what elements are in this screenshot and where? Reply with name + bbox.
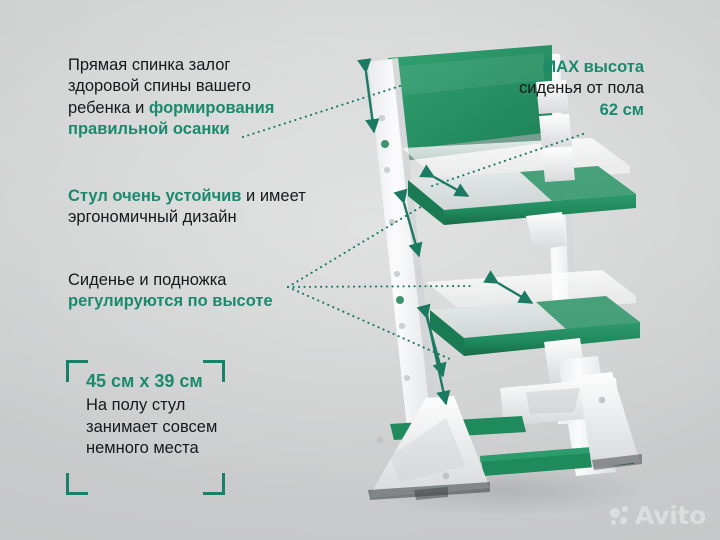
callout-footprint-line2: занимает совсем: [86, 417, 217, 438]
callout-backrest-line3-accent: формирования: [149, 99, 275, 117]
callout-backrest-line3-plain: ребенка и: [68, 99, 149, 117]
callout-max-height: MAX высота сиденья от пола 62 см: [519, 57, 644, 121]
callout-stability-line1: Стул очень устойчив и имеет: [68, 186, 306, 207]
callout-adjustable: Сиденье и подножка регулируются по высот…: [68, 270, 273, 313]
callout-stability-accent: Стул очень устойчив: [68, 187, 241, 205]
avito-watermark: Avito: [610, 503, 706, 528]
callout-max-height-value: 62 см: [519, 100, 644, 121]
callout-adjustable-line1: Сиденье и подножка: [68, 270, 273, 291]
bracket-bottom-right: [203, 473, 225, 495]
avito-wordmark: Avito: [635, 503, 706, 528]
avito-logo-icon: [610, 506, 630, 526]
callout-footprint-line3: немного места: [86, 438, 217, 459]
callout-footprint-line1: На полу стул: [86, 395, 217, 416]
callout-stability-plain: и имеет: [241, 187, 305, 205]
bracket-bottom-left: [66, 473, 88, 495]
callout-adjustable-line2: регулируются по высоте: [68, 291, 273, 312]
callout-footprint-dimensions: 45 см x 39 см: [86, 370, 217, 393]
infographic-canvas: Прямая спинка залог здоровой спины вашег…: [0, 0, 720, 540]
callout-max-height-line2: сиденья от пола: [519, 78, 644, 99]
callout-backrest-line3: ребенка и формирования: [68, 98, 274, 119]
callout-stability-line2: эргономичный дизайн: [68, 207, 306, 228]
callout-footprint: 45 см x 39 см На полу стул занимает совс…: [86, 370, 217, 460]
callout-backrest-line1: Прямая спинка залог: [68, 55, 274, 76]
callout-max-height-line1: MAX высота: [519, 57, 644, 78]
callout-backrest: Прямая спинка залог здоровой спины вашег…: [68, 55, 274, 141]
callout-stability: Стул очень устойчив и имеет эргономичный…: [68, 186, 306, 229]
bracket-top-left: [66, 360, 88, 382]
callout-backrest-line4: правильной осанки: [68, 119, 274, 140]
callout-backrest-line2: здоровой спины вашего: [68, 76, 274, 97]
